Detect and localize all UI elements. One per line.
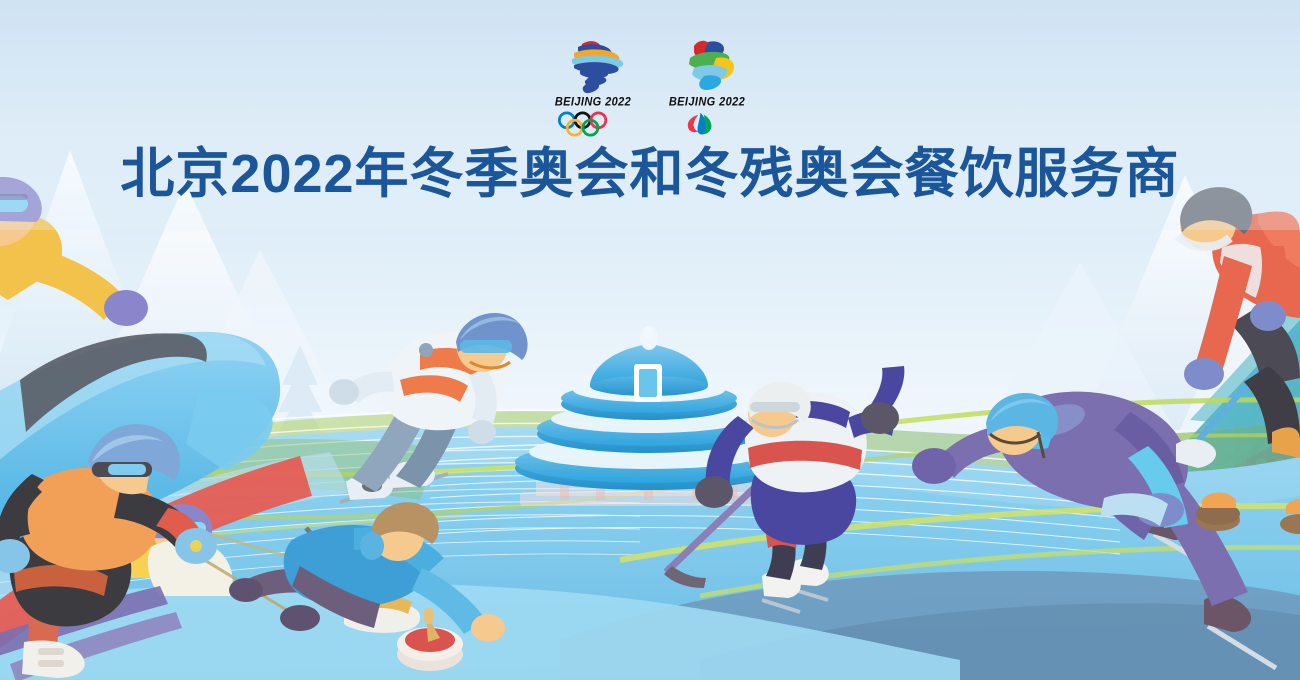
olympic-logo: BEIJING 2022 [548,38,638,137]
beijing-2022-paralympic-mark [664,38,750,96]
emblem-row: BEIJING 2022 BEIJING 2022 [0,38,1300,137]
olympic-banner: BEIJING 2022 BEIJING 2022 [0,0,1300,680]
paralympic-logo: BEIJING 2022 [662,38,752,137]
beijing-2022-olympic-mark [550,38,636,96]
paralympic-wordmark: BEIJING 2022 [669,96,745,108]
paralympic-agitos [665,111,749,137]
olympic-rings [551,111,635,137]
banner-title: 北京2022年冬季奥会和冬残奥会餐饮服务商 [0,146,1300,203]
olympic-wordmark: BEIJING 2022 [555,96,631,108]
